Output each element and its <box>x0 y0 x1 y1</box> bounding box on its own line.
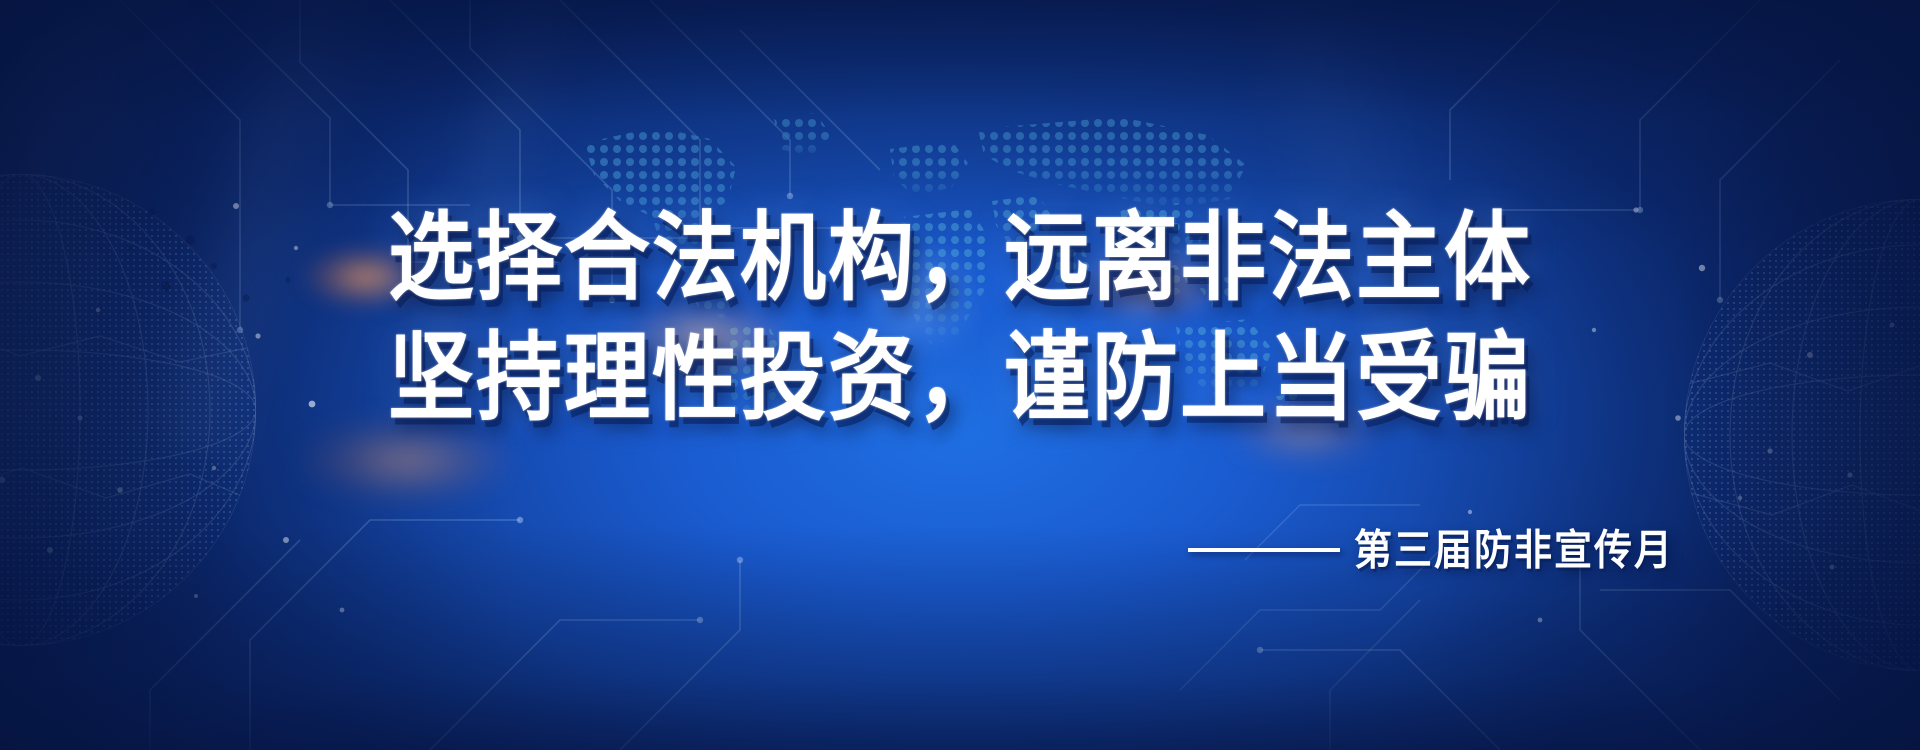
background-vignette <box>0 0 1920 750</box>
promo-banner: 选择合法机构，远离非法主体 坚持理性投资，谨防上当受骗 第三届防非宣传月 <box>0 0 1920 750</box>
